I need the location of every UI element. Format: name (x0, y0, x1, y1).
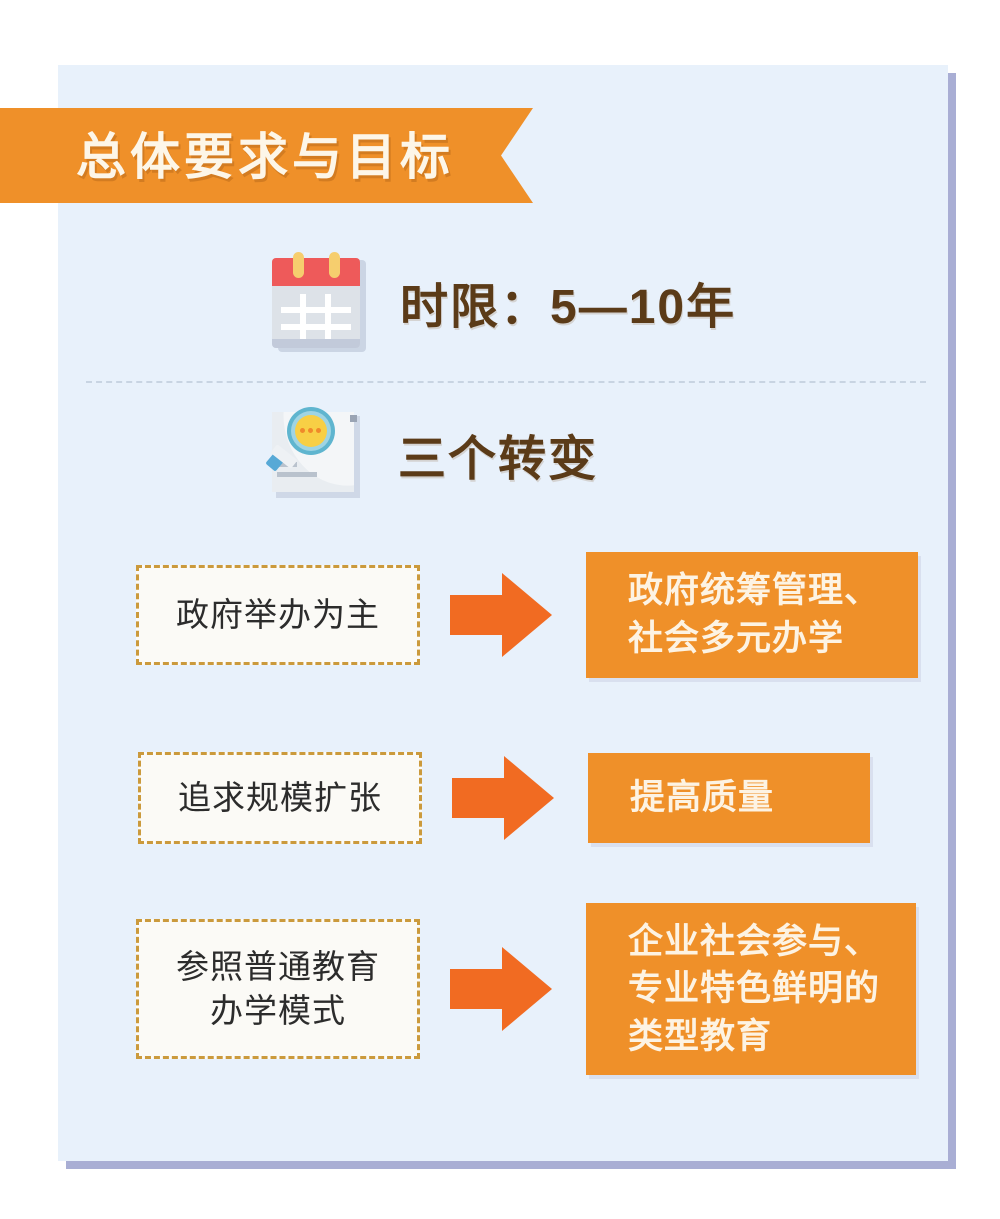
section-heading-timeframe: 时限：5—10年 (272, 252, 736, 352)
transformation-to-box: 企业社会参与、 专业特色鲜明的 类型教育 (586, 903, 916, 1075)
arrow-right-icon (450, 573, 556, 657)
transformation-to-box: 政府统筹管理、 社会多元办学 (586, 552, 918, 678)
arrow-right-icon (450, 947, 556, 1031)
transformation-from-box: 政府举办为主 (136, 565, 420, 665)
document-search-icon (268, 406, 364, 502)
transformation-row: 政府举办为主 政府统筹管理、 社会多元办学 (136, 552, 918, 678)
transformation-from-box: 参照普通教育 办学模式 (136, 919, 420, 1059)
calendar-icon (272, 252, 366, 352)
arrow-right-icon (452, 756, 558, 840)
transformation-row: 参照普通教育 办学模式 企业社会参与、 专业特色鲜明的 类型教育 (136, 903, 916, 1075)
transformation-row: 追求规模扩张 提高质量 (138, 752, 870, 844)
section-heading-label: 时限：5—10年 (400, 267, 736, 337)
page-title: 总体要求与目标 (76, 118, 496, 196)
transformation-from-box: 追求规模扩张 (138, 752, 422, 844)
section-heading-label: 三个转变 (398, 419, 598, 489)
section-heading-transformations: 三个转变 (268, 406, 598, 502)
transformation-to-box: 提高质量 (588, 753, 870, 843)
section-divider (86, 381, 926, 383)
